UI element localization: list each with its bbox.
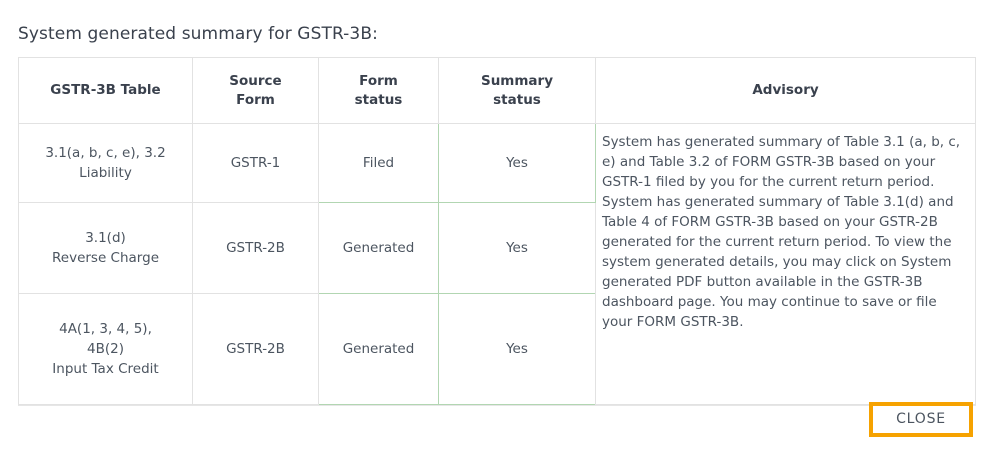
column-header-form-status: Form status bbox=[319, 58, 439, 124]
column-header-line: Summary bbox=[481, 73, 553, 89]
close-button[interactable]: CLOSE bbox=[869, 402, 973, 437]
column-header-line: Form bbox=[359, 73, 398, 89]
column-header-line: GSTR-3B Table bbox=[50, 82, 160, 98]
cell-summary-status: Yes bbox=[439, 294, 596, 405]
cell-source-form: GSTR-1 bbox=[193, 124, 319, 203]
column-header-line: Advisory bbox=[752, 82, 818, 98]
cell-line: 4A(1, 3, 4, 5), bbox=[59, 321, 152, 337]
cell-source-form: GSTR-2B bbox=[193, 294, 319, 405]
cell-gstr3b-table: 3.1(a, b, c, e), 3.2 Liability bbox=[19, 124, 193, 203]
cell-line: Reverse Charge bbox=[52, 250, 159, 266]
cell-advisory: System has generated summary of Table 3.… bbox=[596, 124, 976, 405]
cell-line: Input Tax Credit bbox=[52, 361, 158, 377]
table-row: 3.1(a, b, c, e), 3.2 Liability GSTR-1 Fi… bbox=[19, 124, 976, 203]
column-header-line: status bbox=[355, 92, 403, 108]
column-header-line: Source bbox=[229, 73, 281, 89]
cell-summary-status: Yes bbox=[439, 203, 596, 294]
table-header-row: GSTR-3B Table Source Form Form status Su… bbox=[19, 58, 976, 124]
cell-form-status: Filed bbox=[319, 124, 439, 203]
column-header-source-form: Source Form bbox=[193, 58, 319, 124]
cell-source-form: GSTR-2B bbox=[193, 203, 319, 294]
table-body: 3.1(a, b, c, e), 3.2 Liability GSTR-1 Fi… bbox=[19, 124, 976, 405]
page-title: System generated summary for GSTR-3B: bbox=[18, 23, 378, 45]
cell-line: 3.1(a, b, c, e), 3.2 bbox=[45, 145, 165, 161]
column-header-advisory: Advisory bbox=[596, 58, 976, 124]
cell-line: Liability bbox=[79, 165, 132, 181]
column-header-gstr3b-table: GSTR-3B Table bbox=[19, 58, 193, 124]
cell-form-status: Generated bbox=[319, 294, 439, 405]
cell-form-status: Generated bbox=[319, 203, 439, 294]
table-header: GSTR-3B Table Source Form Form status Su… bbox=[19, 58, 976, 124]
column-header-summary-status: Summary status bbox=[439, 58, 596, 124]
gstr3b-summary-table: GSTR-3B Table Source Form Form status Su… bbox=[18, 57, 976, 405]
cell-gstr3b-table: 4A(1, 3, 4, 5), 4B(2) Input Tax Credit bbox=[19, 294, 193, 405]
cell-line: 3.1(d) bbox=[85, 230, 126, 246]
cell-gstr3b-table: 3.1(d) Reverse Charge bbox=[19, 203, 193, 294]
cell-summary-status: Yes bbox=[439, 124, 596, 203]
cell-line: 4B(2) bbox=[87, 341, 124, 357]
column-header-line: Form bbox=[236, 92, 275, 108]
column-header-line: status bbox=[493, 92, 541, 108]
summary-dialog: System generated summary for GSTR-3B: GS… bbox=[0, 0, 992, 458]
